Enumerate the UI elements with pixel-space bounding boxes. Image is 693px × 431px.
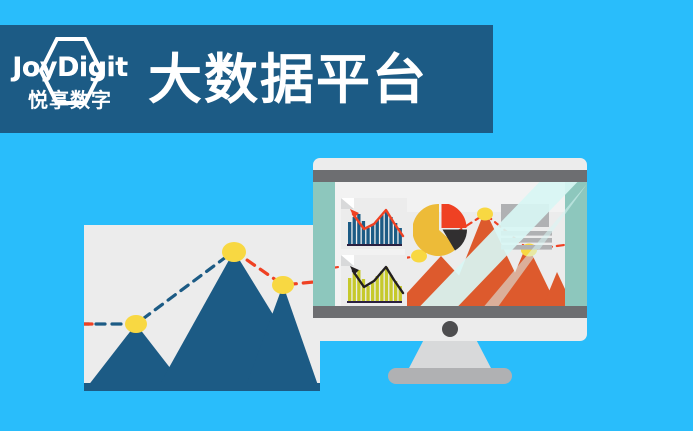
text-line xyxy=(501,238,552,243)
header-banner: JoyDigit 悦享数字 大数据平台 xyxy=(0,25,493,133)
monitor-stand xyxy=(408,341,492,370)
bar-chart-olive-widget[interactable] xyxy=(341,255,407,306)
page-title: 大数据平台 xyxy=(148,53,428,107)
chart-axis xyxy=(347,244,402,246)
chart-axis xyxy=(347,301,402,303)
monitor-top-bezel xyxy=(313,170,587,182)
monitor-screen[interactable] xyxy=(313,182,587,306)
logo-chinese-text: 悦享数字 xyxy=(28,91,112,111)
data-point-marker xyxy=(477,208,493,221)
mountain-area-chart-panel xyxy=(84,225,320,391)
text-line xyxy=(501,245,552,250)
logo-english-text: JoyDigit xyxy=(12,54,127,81)
pie-chart-widget[interactable] xyxy=(413,204,469,260)
data-point-marker xyxy=(272,276,294,294)
data-point-marker xyxy=(125,315,147,333)
screen-left-stripe xyxy=(313,182,335,306)
text-line xyxy=(501,231,552,236)
mountain-area-chart-svg xyxy=(84,225,320,391)
monitor-stand-base xyxy=(388,368,512,384)
page-root: JoyDigit 悦享数字 大数据平台 xyxy=(0,0,693,431)
mountain-baseline xyxy=(84,383,320,391)
brand-logo: JoyDigit 悦享数字 xyxy=(14,36,126,122)
desktop-monitor xyxy=(313,158,587,341)
pie-slice-red xyxy=(442,204,467,228)
monitor-bottom-bezel xyxy=(313,306,587,318)
image-placeholder xyxy=(501,204,549,227)
monitor-power-button[interactable] xyxy=(442,321,458,337)
screen-right-stripe xyxy=(565,182,587,306)
data-point-marker xyxy=(222,242,246,262)
bar-chart-blue-widget[interactable] xyxy=(341,198,407,249)
text-block-widget[interactable] xyxy=(501,204,557,250)
